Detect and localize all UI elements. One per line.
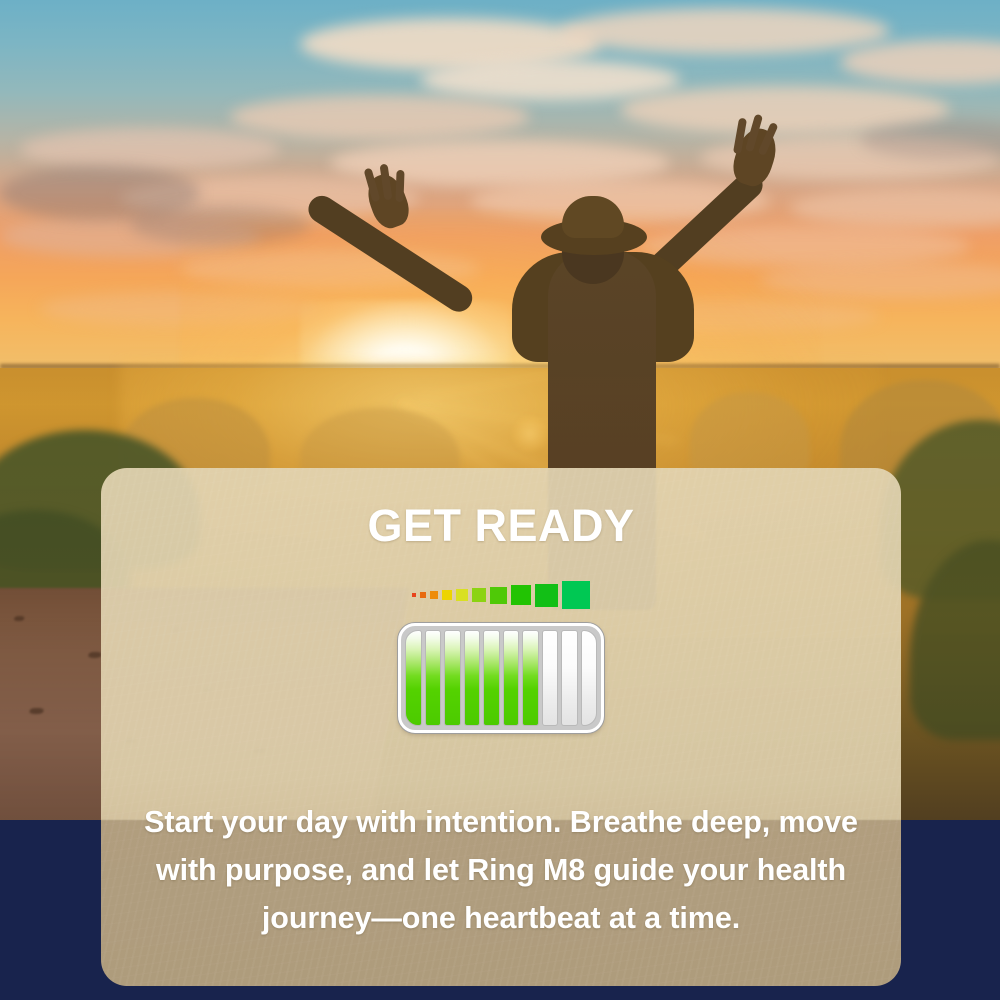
gauge-segment-8-empty <box>542 630 559 726</box>
hat-crown <box>562 196 624 238</box>
progress-square-9 <box>535 584 558 607</box>
gauge-segment-10-empty <box>581 630 598 726</box>
battery-level-gauge <box>398 623 604 733</box>
card-body-text: Start your day with intention. Breathe d… <box>137 798 865 942</box>
growing-squares-progress <box>101 578 901 612</box>
gauge-segment-3-filled <box>444 630 461 726</box>
page-title: GET READY <box>101 500 901 552</box>
progress-square-6 <box>472 588 486 602</box>
gauge-segment-1-filled <box>405 630 422 726</box>
progress-square-7 <box>490 587 507 604</box>
gauge-segment-4-filled <box>464 630 481 726</box>
progress-square-10 <box>562 581 590 609</box>
progress-square-8 <box>511 585 531 605</box>
level-gauge-wrap <box>101 623 901 733</box>
gauge-segment-9-empty <box>561 630 578 726</box>
progress-square-3 <box>430 591 438 599</box>
progress-square-5 <box>456 589 468 601</box>
promo-card: GET READY Start your day with intention.… <box>101 468 901 986</box>
progress-square-4 <box>442 590 452 600</box>
gauge-segment-7-filled <box>522 630 539 726</box>
promo-canvas: GET READY Start your day with intention.… <box>0 0 1000 1000</box>
gauge-segment-5-filled <box>483 630 500 726</box>
gauge-segment-6-filled <box>503 630 520 726</box>
gauge-segment-2-filled <box>425 630 442 726</box>
left-finger <box>395 170 404 202</box>
progress-square-2 <box>420 592 426 598</box>
progress-square-1 <box>412 593 416 597</box>
